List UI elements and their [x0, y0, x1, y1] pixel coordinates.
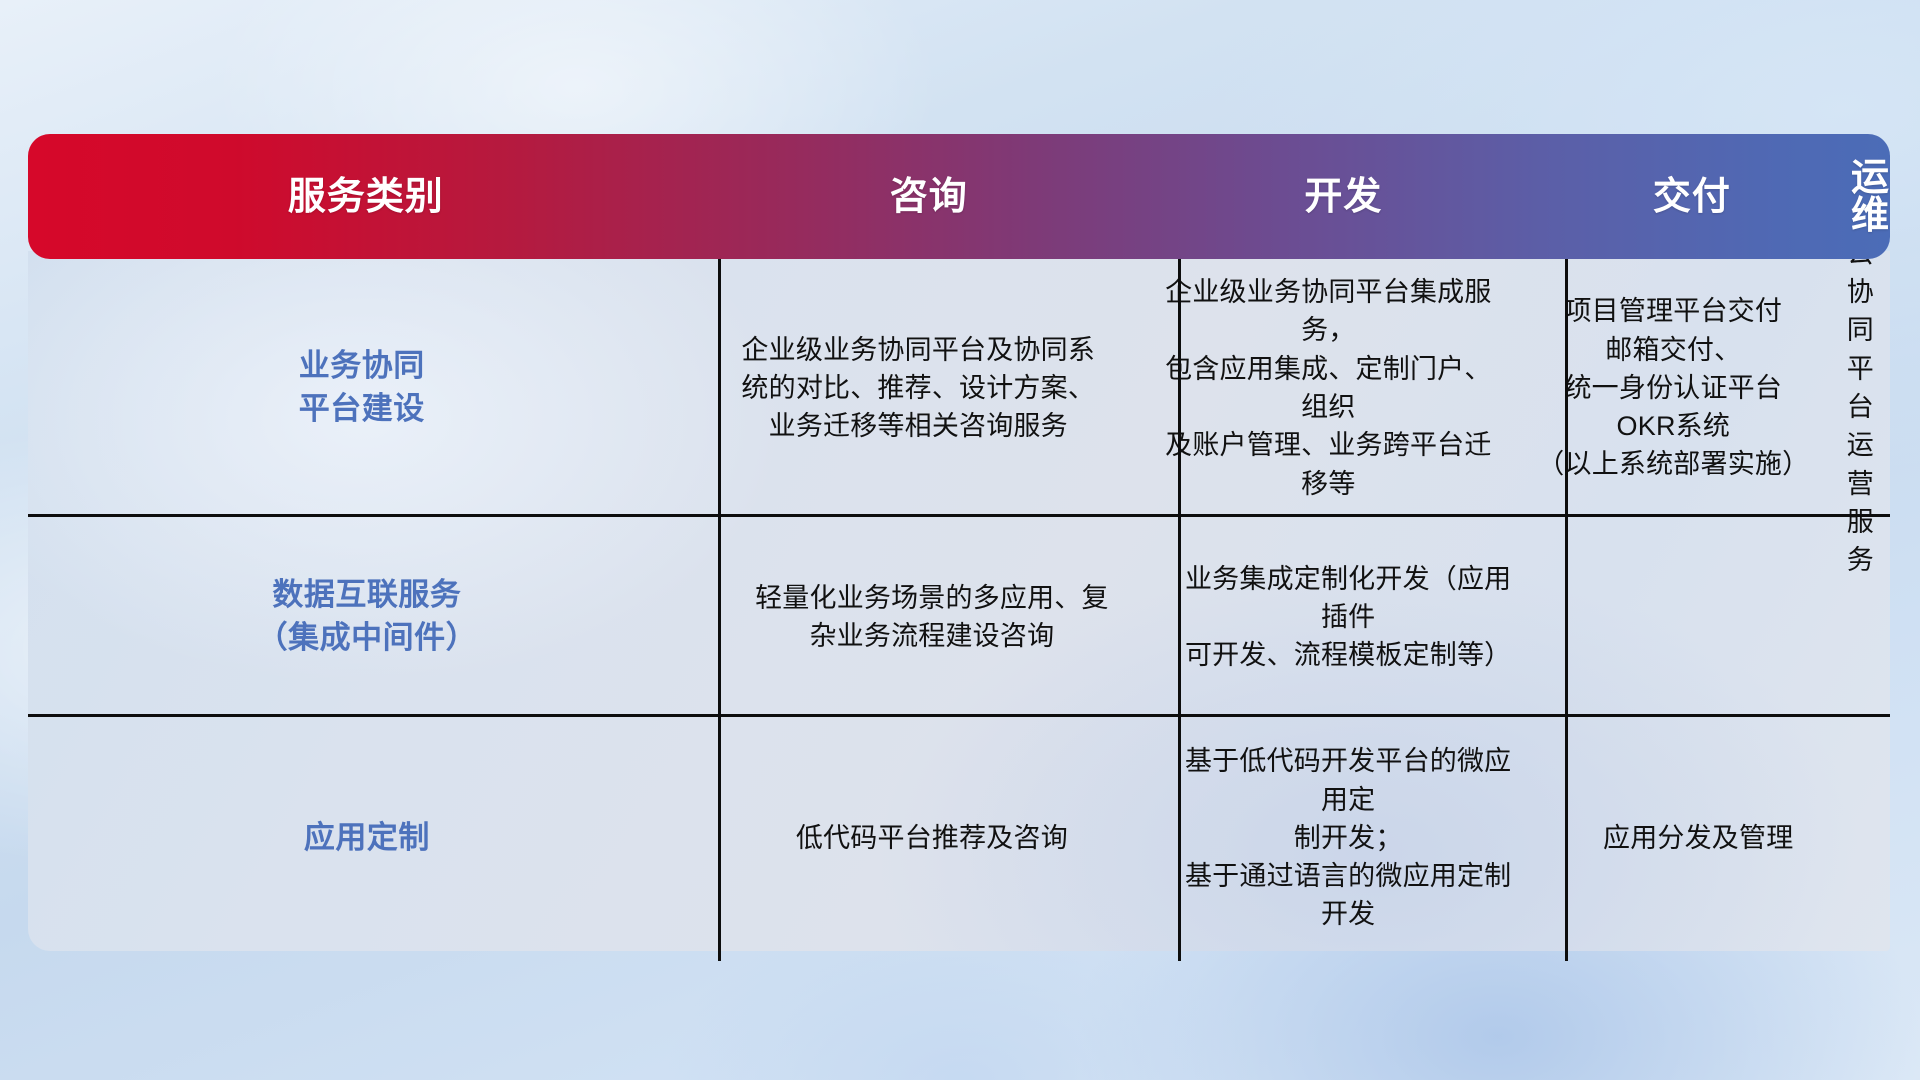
- cell-category: 业务协同 平台建设: [28, 259, 696, 517]
- cell-development: 企业级业务协同平台集成服务， 包含应用集成、定制门户、组织 及账户管理、业务跨平…: [1141, 259, 1516, 517]
- cell-consulting: 企业级业务协同平台及协同系 统的对比、推荐、设计方案、 业务迁移等相关咨询服务: [696, 259, 1141, 517]
- cell-delivery: 项目管理平台交付 邮箱交付、 统一身份认证平台 OKR系统 （以上系统部署实施）: [1516, 259, 1831, 517]
- table-header-row: 服务类别 咨询 开发 交付 运维: [28, 134, 1890, 259]
- table-row: 应用定制 低代码平台推荐及咨询 基于低代码开发平台的微应用定 制开发； 基于通过…: [28, 717, 1890, 959]
- column-header-consulting: 咨询: [704, 178, 1154, 216]
- cell-development: 基于低代码开发平台的微应用定 制开发； 基于通过语言的微应用定制开发: [1158, 717, 1538, 959]
- column-divider-3: [1565, 251, 1568, 961]
- column-header-category: 服务类别: [28, 178, 704, 216]
- cell-category: 数据互联服务 （集成中间件）: [28, 517, 706, 717]
- column-header-delivery: 交付: [1533, 178, 1851, 216]
- column-header-operations: 运维: [1851, 159, 1890, 235]
- cell-consulting: 轻量化业务场景的多应用、复 杂业务流程建设咨询: [706, 517, 1158, 717]
- column-divider-1: [718, 251, 721, 961]
- cell-development: 业务集成定制化开发（应用插件 可开发、流程模板定制等）: [1158, 517, 1538, 717]
- table-body: 业务协同 平台建设 企业级业务协同平台及协同系 统的对比、推荐、设计方案、 业务…: [28, 251, 1890, 951]
- cell-operations: [1858, 717, 1890, 959]
- table-row: 业务协同 平台建设 企业级业务协同平台及协同系 统的对比、推荐、设计方案、 业务…: [28, 259, 1890, 517]
- cell-operations: [1858, 517, 1890, 717]
- column-divider-2: [1178, 251, 1181, 961]
- cell-delivery: 应用分发及管理: [1538, 717, 1858, 959]
- table-row: 数据互联服务 （集成中间件） 轻量化业务场景的多应用、复 杂业务流程建设咨询 业…: [28, 517, 1890, 717]
- service-matrix-table: 服务类别 咨询 开发 交付 运维 业务协同 平台建设 企业级业务协同平台及协同系…: [28, 134, 1890, 952]
- cell-delivery: [1538, 517, 1858, 717]
- column-header-development: 开发: [1154, 178, 1533, 216]
- cell-operations: 办公协同平台运营服务: [1831, 259, 1890, 517]
- cell-consulting: 低代码平台推荐及咨询: [706, 717, 1158, 959]
- cell-category: 应用定制: [28, 717, 706, 959]
